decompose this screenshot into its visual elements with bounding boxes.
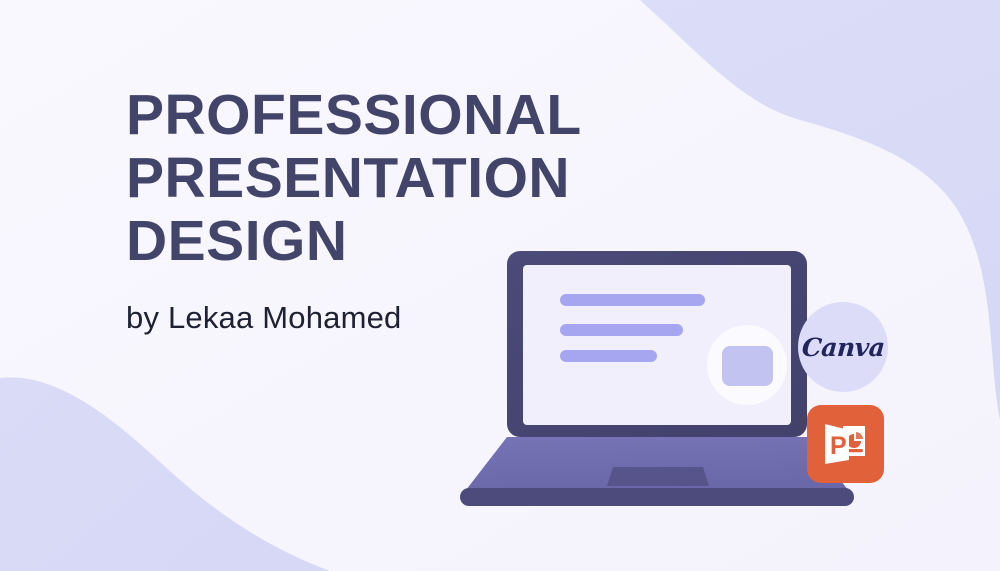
laptop-front-edge [460, 488, 854, 506]
microsoft-powerpoint-icon: P [823, 422, 869, 466]
powerpoint-badge[interactable]: P [807, 405, 884, 483]
slide-canvas: PROFESSIONAL PRESENTATION DESIGN by Leka… [0, 0, 1000, 571]
headline-line-2: PRESENTATION [126, 147, 686, 210]
laptop-trackpad [607, 467, 709, 486]
headline-line-1: PROFESSIONAL [126, 84, 686, 147]
screen-text-bar-short [560, 350, 657, 362]
screen-text-bar-medium [560, 324, 683, 336]
canva-badge[interactable]: Canva [798, 302, 888, 392]
screen-text-bar-long [560, 294, 705, 306]
canva-wordmark-icon: Canva [801, 333, 886, 362]
svg-text:P: P [830, 432, 847, 460]
screen-image-placeholder [722, 346, 773, 386]
